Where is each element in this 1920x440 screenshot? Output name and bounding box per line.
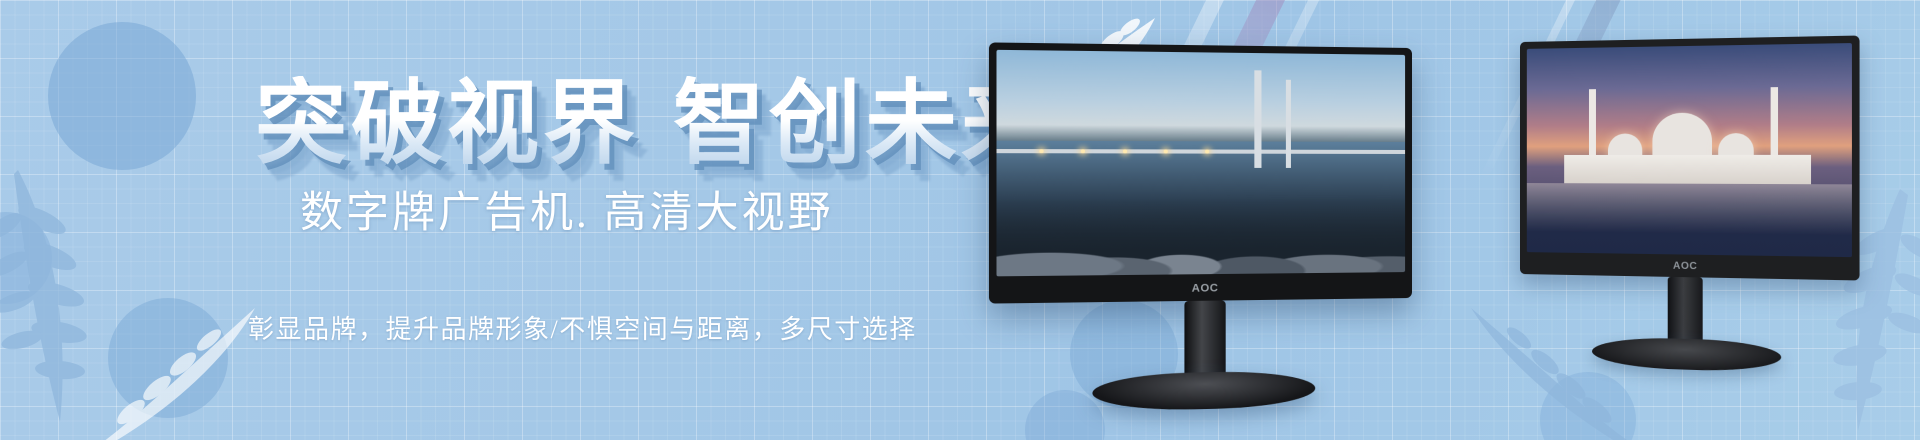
monitor-stand-neck bbox=[1668, 277, 1703, 348]
monitor-back: AOC bbox=[1520, 36, 1860, 281]
monitor-screen bbox=[996, 50, 1405, 277]
bridge-photo bbox=[996, 50, 1405, 277]
monitor-front: AOC bbox=[989, 42, 1412, 303]
tagline: 彰显品牌，提升品牌形象/不惧空间与距离，多尺寸选择 bbox=[248, 314, 917, 346]
headline-part-1: 突破视界 bbox=[255, 73, 639, 175]
monitor-screen bbox=[1527, 43, 1852, 257]
monitor-stand-base bbox=[1092, 370, 1315, 412]
banner-copy: 突破视界智创未来 数字牌广告机. 高清大视野 彰显品牌，提升品牌形象/不惧空间与… bbox=[0, 0, 1060, 440]
page-title: 突破视界智创未来 bbox=[255, 76, 1057, 172]
monitor-stand-neck bbox=[1184, 300, 1225, 380]
product-images: AOC bbox=[1080, 0, 1920, 440]
mosque-photo bbox=[1527, 43, 1852, 257]
monitor-bezel: AOC bbox=[1520, 36, 1860, 281]
monitor-stand-base bbox=[1592, 336, 1781, 373]
promo-banner: 突破视界智创未来 数字牌广告机. 高清大视野 彰显品牌，提升品牌形象/不惧空间与… bbox=[0, 0, 1920, 440]
subheading: 数字牌广告机. 高清大视野 bbox=[300, 190, 834, 238]
brand-logo: AOC bbox=[1187, 282, 1224, 296]
brand-logo: AOC bbox=[1669, 260, 1702, 273]
monitor-bezel: AOC bbox=[989, 42, 1412, 303]
